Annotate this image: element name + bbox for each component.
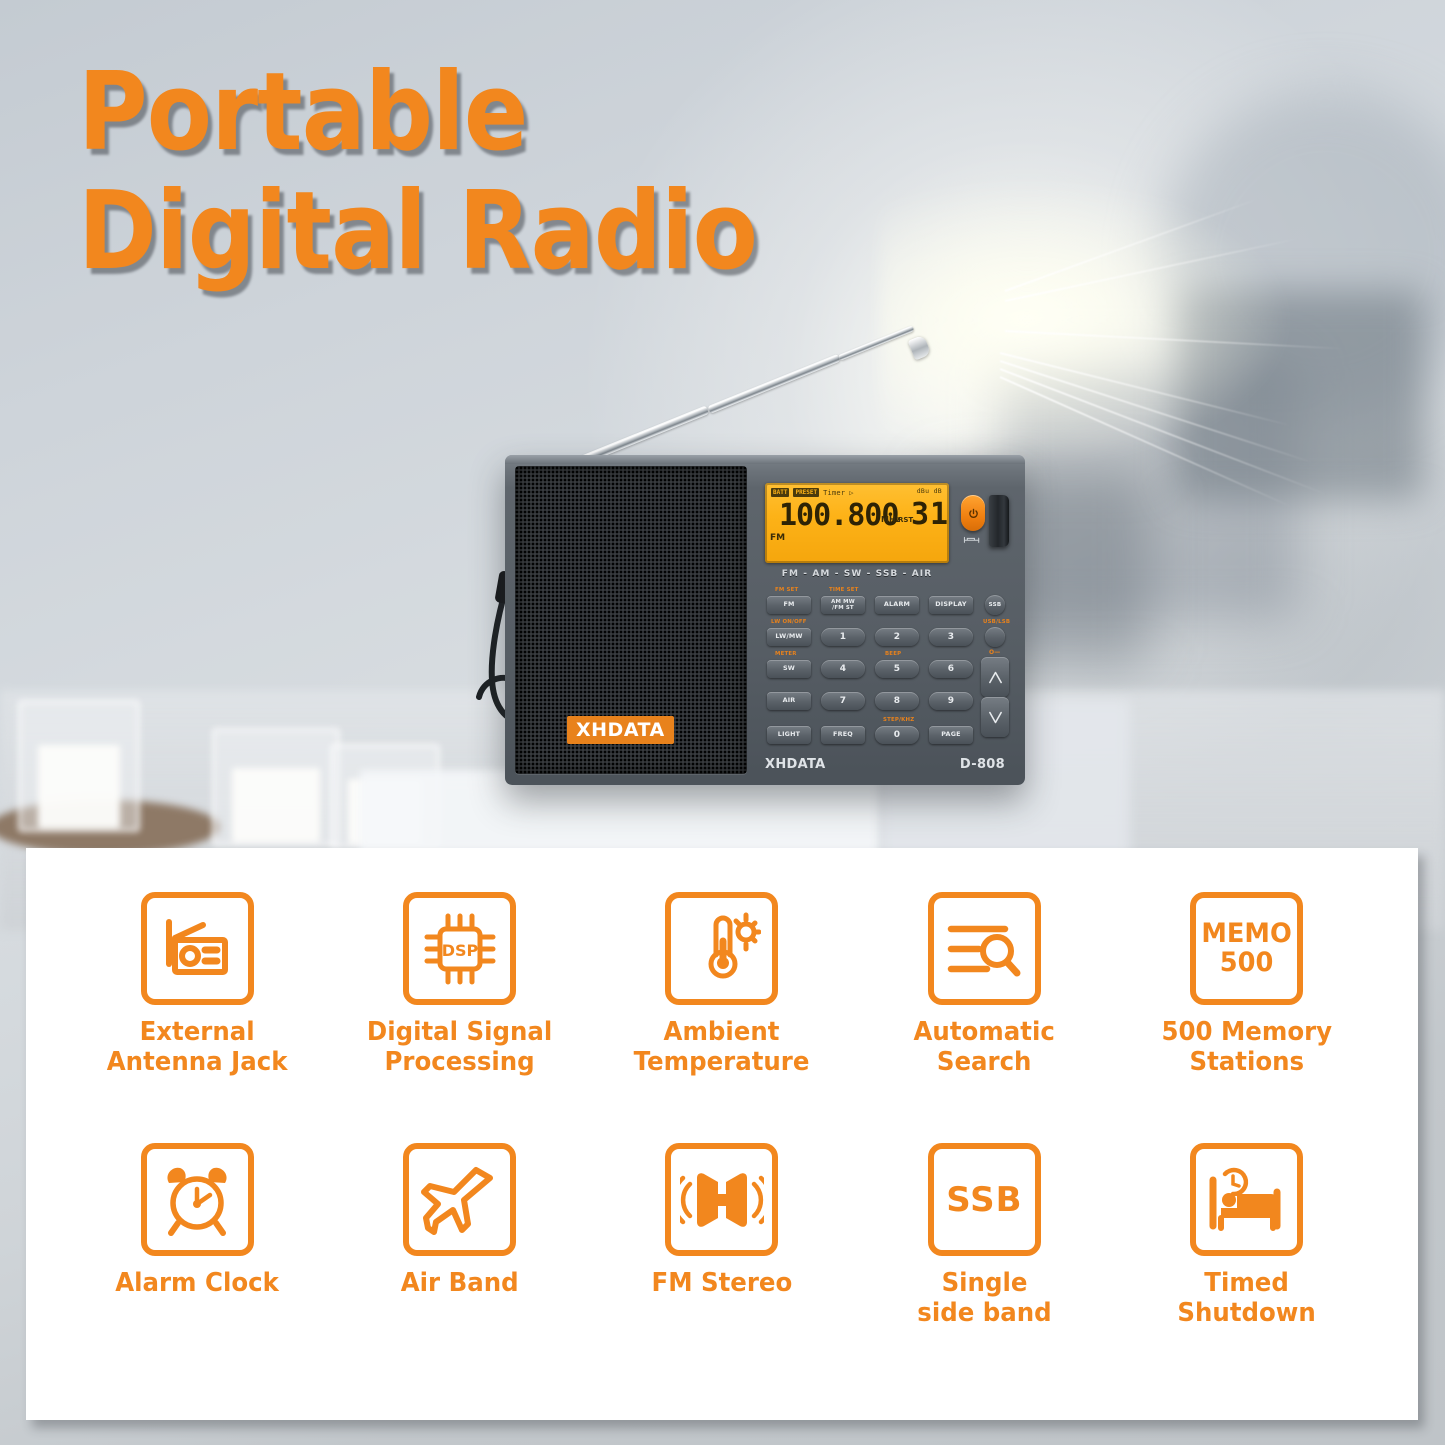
signal-meter-label: dBu dB <box>917 487 942 495</box>
memo-glyph-line-1: MEMO <box>1202 920 1292 948</box>
key-6[interactable]: 6 <box>929 660 973 678</box>
feature-label: Single side band <box>917 1269 1051 1328</box>
play-indicator: ▷ <box>849 489 853 497</box>
dsp-chip-icon: DSP <box>403 892 516 1005</box>
feature-ssb: SSB Single side band <box>853 1143 1115 1394</box>
key-2[interactable]: 2 <box>875 628 919 646</box>
feature-label-line-2: Processing <box>367 1048 552 1078</box>
feature-timed-shutdown: Timed Shutdown <box>1116 1143 1378 1394</box>
key-7[interactable]: 7 <box>821 692 865 710</box>
key-alarm[interactable]: ALARM <box>875 596 919 614</box>
feature-label: Air Band <box>401 1269 519 1299</box>
brand-plate: XHDATA <box>567 716 674 744</box>
candle-glass <box>212 728 340 846</box>
key-over-label-lw-onoff: LW ON/OFF <box>771 619 807 625</box>
feature-label: Ambient Temperature <box>634 1018 810 1077</box>
key-usb-lsb[interactable] <box>985 627 1005 647</box>
feature-label-line-1: 500 Memory <box>1161 1018 1332 1048</box>
keypad-row: FM SET TIME SET FM AM MW /FM ST ALARM DI… <box>763 587 1013 619</box>
key-over-label-usb-lsb: USB/LSB <box>983 619 1010 625</box>
feature-grid: External Antenna Jack DSP Digital Signal… <box>26 848 1418 1420</box>
key-0[interactable]: 0 <box>875 726 919 744</box>
keypad-row: METER BEEP O— SW 4 5 6 <box>763 651 1013 683</box>
key-over-label-fm-set: FM SET <box>775 587 798 593</box>
key-lw-mw[interactable]: LW/MW <box>767 628 811 646</box>
feature-label-line-1: Ambient <box>634 1018 810 1048</box>
preset-indicator: PRESET <box>793 488 819 497</box>
feature-label: External Antenna Jack <box>107 1018 288 1077</box>
feature-label: 500 Memory Stations <box>1161 1018 1332 1077</box>
feature-label-line-2: Temperature <box>634 1048 810 1078</box>
ssb-glyph: SSB <box>946 1180 1022 1220</box>
key-air[interactable]: AIR <box>767 692 811 710</box>
key-ssb[interactable]: SSB <box>985 595 1005 615</box>
radio-body: XHDATA BATT PRESET Timer ▷ dBu dB 100.80… <box>505 455 1025 785</box>
feature-dsp: DSP Digital Signal Processing <box>328 892 590 1143</box>
thermometer-sun-icon <box>665 892 778 1005</box>
key-page[interactable]: PAGE <box>929 726 973 744</box>
feature-air-band: Air Band <box>328 1143 590 1394</box>
keypad-row: AIR 7 8 9 <box>763 683 1013 715</box>
key-over-label-time-set: TIME SET <box>829 587 858 593</box>
feature-label-line-1: Single <box>917 1269 1051 1299</box>
ssb-text-icon: SSB <box>928 1143 1041 1256</box>
keypad: FM SET TIME SET FM AM MW /FM ST ALARM DI… <box>763 587 1013 747</box>
key-fm[interactable]: FM <box>767 596 811 614</box>
feature-label-line-1: Timed <box>1178 1269 1316 1299</box>
key-9[interactable]: 9 <box>929 692 973 710</box>
memo-glyph-line-2: 500 <box>1202 949 1292 977</box>
feature-memory-stations: MEMO 500 500 Memory Stations <box>1116 892 1378 1143</box>
battery-indicator: BATT <box>771 488 789 497</box>
tuning-knob[interactable] <box>989 495 1009 547</box>
key-freq[interactable]: FREQ <box>821 726 865 744</box>
feature-auto-search: Automatic Search <box>853 892 1115 1143</box>
lock-icon-label: O— <box>989 649 1001 656</box>
fm-stereo-speaker-icon <box>665 1143 778 1256</box>
key-1[interactable]: 1 <box>821 628 865 646</box>
key-am-fm-st[interactable]: AM MW /FM ST <box>821 596 865 614</box>
key-over-label-meter: METER <box>775 651 797 657</box>
keypad-row: STEP/KHZ LIGHT FREQ 0 PAGE <box>763 715 1013 747</box>
key-4[interactable]: 4 <box>821 660 865 678</box>
feature-card: External Antenna Jack DSP Digital Signal… <box>26 848 1418 1420</box>
product-marketing-image: Portable Digital Radio XHDATA <box>0 0 1445 1445</box>
key-8[interactable]: 8 <box>875 692 919 710</box>
feature-label-line-1: Alarm Clock <box>115 1269 279 1299</box>
speaker-grille: XHDATA <box>515 466 747 774</box>
lcd-display: BATT PRESET Timer ▷ dBu dB 100.800 MHz R… <box>765 483 949 563</box>
radio-top-edge <box>505 455 1025 464</box>
feature-label-line-1: Air Band <box>401 1269 519 1299</box>
airplane-icon <box>403 1143 516 1256</box>
candle-glass <box>18 700 140 832</box>
mode-indicator: FM <box>770 533 785 543</box>
control-panel: BATT PRESET Timer ▷ dBu dB 100.800 MHz R… <box>753 465 1015 775</box>
feature-label-line-1: External <box>107 1018 288 1048</box>
feature-label: Alarm Clock <box>115 1269 279 1299</box>
key-5[interactable]: 5 <box>875 660 919 678</box>
key-over-label-beep: BEEP <box>885 651 901 657</box>
sleep-bed-icon <box>963 535 983 544</box>
key-light[interactable]: LIGHT <box>767 726 811 744</box>
key-sw[interactable]: SW <box>767 660 811 678</box>
headline: Portable Digital Radio <box>78 62 850 283</box>
feature-label: FM Stereo <box>652 1269 793 1299</box>
model-label: D-808 <box>960 757 1005 772</box>
feature-label-line-2: Search <box>914 1048 1055 1078</box>
feature-temperature: Ambient Temperature <box>591 892 853 1143</box>
feature-label-line-2: side band <box>917 1299 1051 1329</box>
key-over-label-step-khz: STEP/KHZ <box>883 717 914 723</box>
key-display[interactable]: DISPLAY <box>929 596 973 614</box>
feature-label: Automatic Search <box>914 1018 1055 1077</box>
rst-value: 311 <box>911 497 949 532</box>
feature-label: Digital Signal Processing <box>367 1018 552 1077</box>
radio-product: XHDATA BATT PRESET Timer ▷ dBu dB 100.80… <box>497 345 1042 805</box>
feature-external-antenna: External Antenna Jack <box>66 892 328 1143</box>
feature-label-line-2: Shutdown <box>1178 1299 1316 1329</box>
timer-indicator: Timer <box>823 489 845 497</box>
headline-line-2: Digital Radio <box>78 181 757 284</box>
feature-alarm-clock: Alarm Clock <box>66 1143 328 1394</box>
feature-label-line-1: Automatic <box>914 1018 1055 1048</box>
feature-label-line-2: Antenna Jack <box>107 1048 288 1078</box>
panel-brand-label: XHDATA <box>765 757 825 772</box>
svg-text:DSP: DSP <box>441 941 478 960</box>
power-icon <box>968 508 979 519</box>
feature-fm-stereo: FM Stereo <box>591 1143 853 1394</box>
headline-line-1: Portable <box>78 62 757 165</box>
feature-label-line-2: Stations <box>1161 1048 1332 1078</box>
antenna-segment <box>708 354 841 413</box>
feature-label-line-1: Digital Signal <box>367 1018 552 1048</box>
grille-brand-label: XHDATA <box>576 719 665 741</box>
band-strip-label: FM - AM - SW - SSB - AIR <box>765 569 949 579</box>
feature-label: Timed Shutdown <box>1178 1269 1316 1328</box>
keypad-row: LW ON/OFF USB/LSB LW/MW 1 2 3 <box>763 619 1013 651</box>
external-antenna-icon <box>141 892 254 1005</box>
alarm-clock-icon <box>141 1143 254 1256</box>
search-list-icon <box>928 892 1041 1005</box>
key-3[interactable]: 3 <box>929 628 973 646</box>
feature-label-line-1: FM Stereo <box>652 1269 793 1299</box>
bed-clock-icon <box>1190 1143 1303 1256</box>
memo-500-icon: MEMO 500 <box>1190 892 1303 1005</box>
power-button[interactable] <box>961 495 985 531</box>
